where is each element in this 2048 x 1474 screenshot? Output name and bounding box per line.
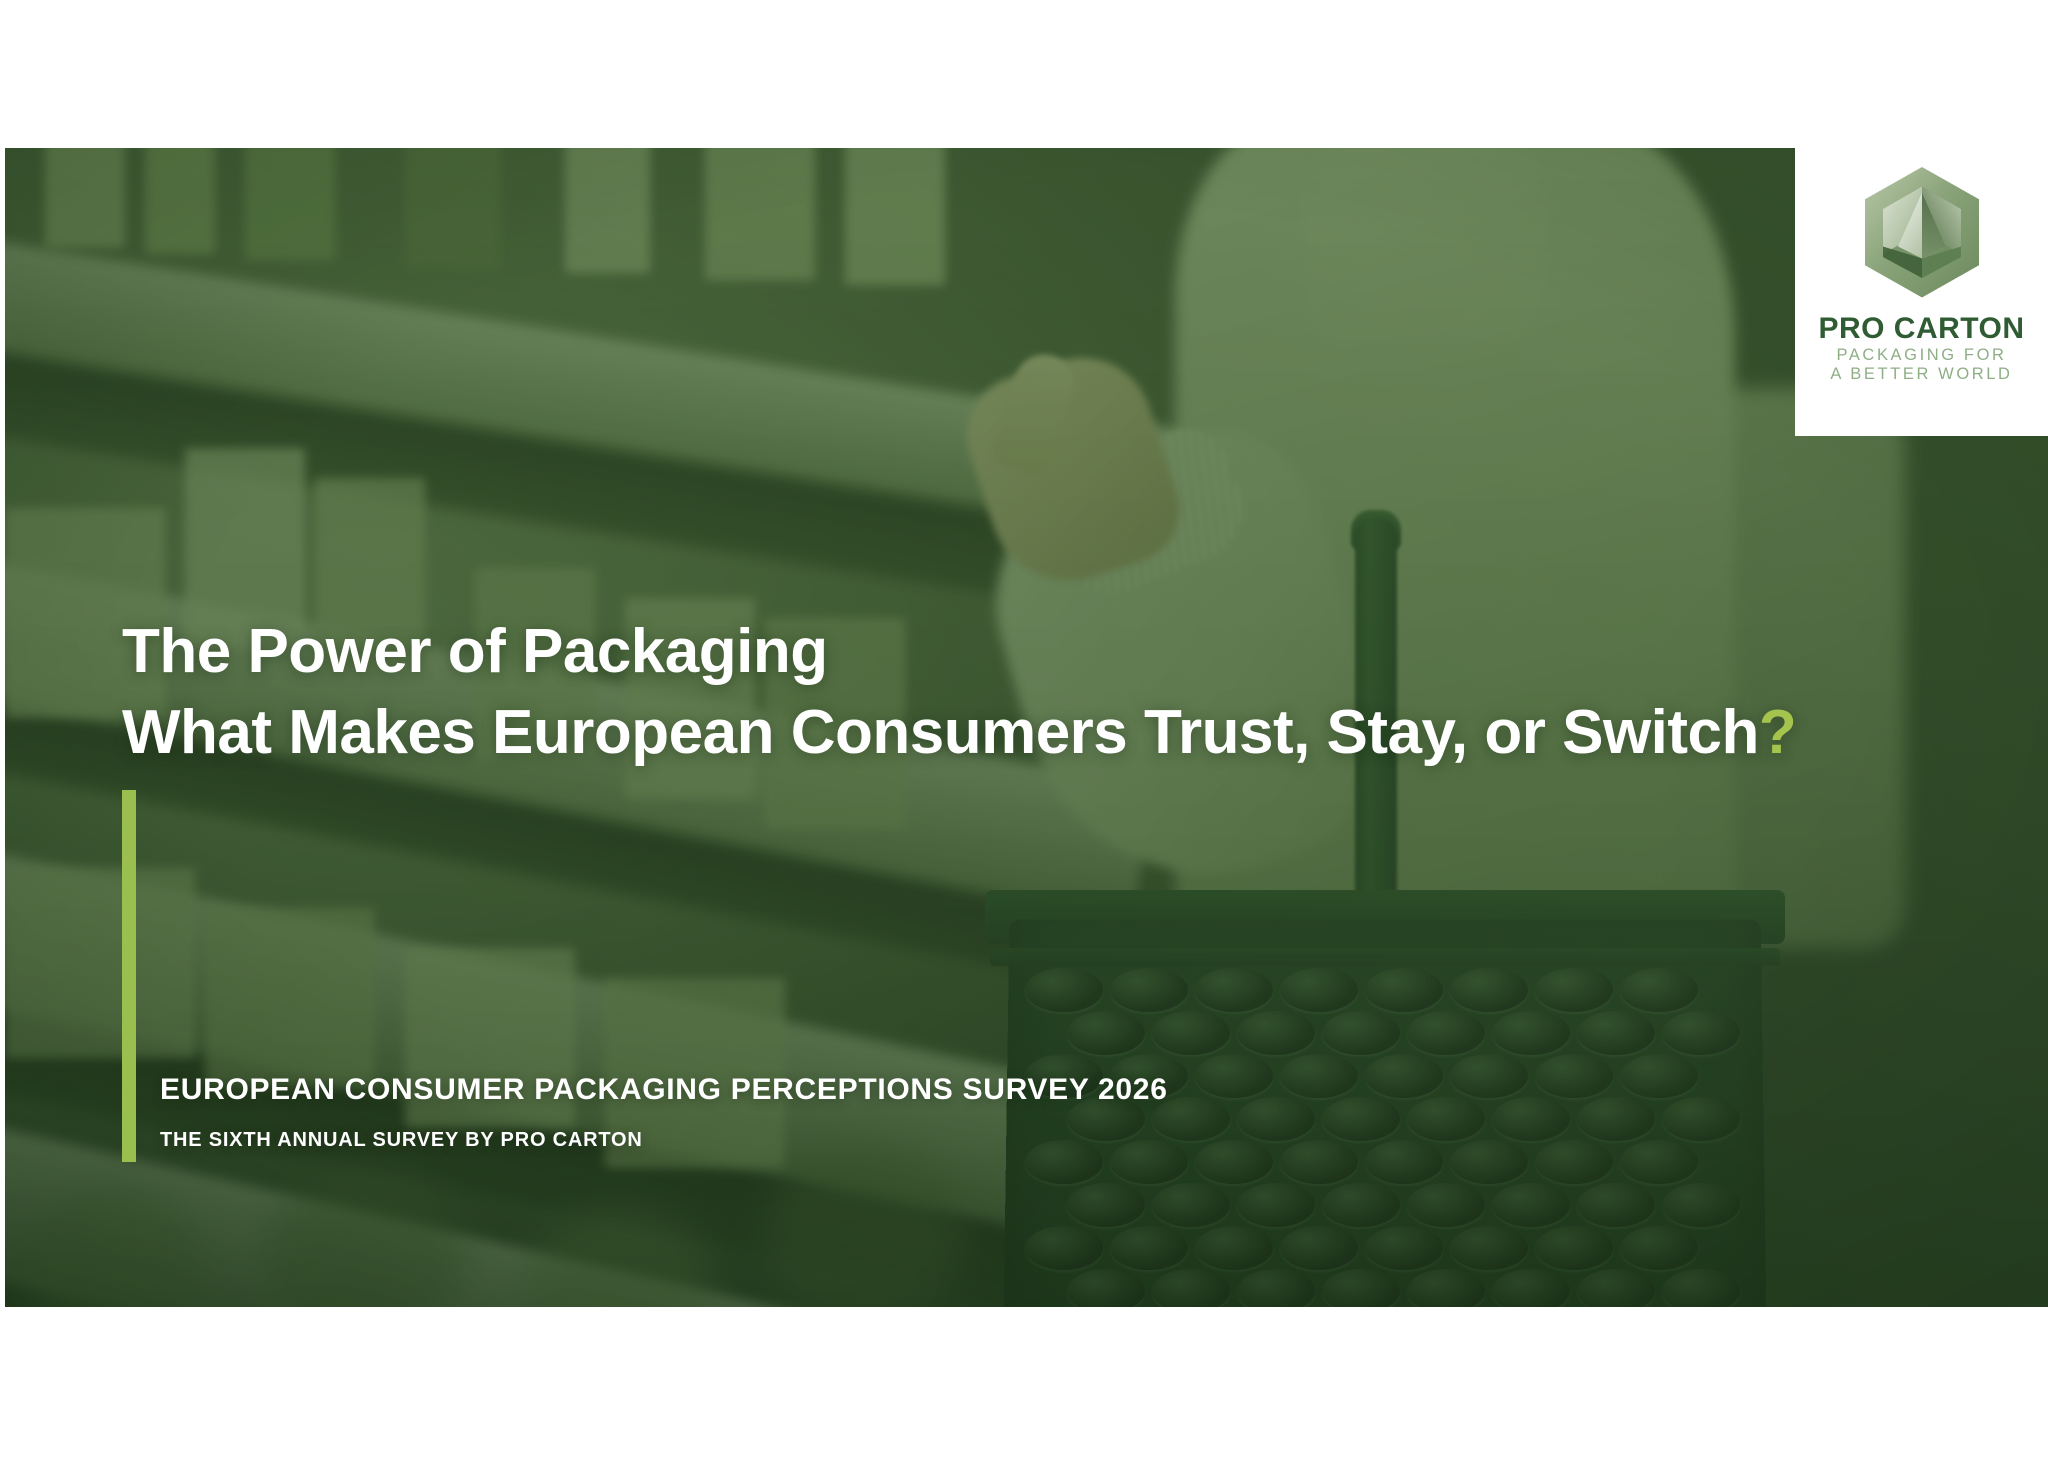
- survey-name: EUROPEAN CONSUMER PACKAGING PERCEPTIONS …: [160, 1073, 1168, 1107]
- slide-canvas: The Power of Packaging What Makes Europe…: [0, 0, 2048, 1474]
- logo-panel[interactable]: PRO CARTON PACKAGING FOR A BETTER WORLD: [1795, 148, 2048, 436]
- survey-byline: THE SIXTH ANNUAL SURVEY BY PRO CARTON: [160, 1129, 1168, 1152]
- page-title-line-1: The Power of Packaging: [122, 612, 1922, 693]
- title-block: The Power of Packaging What Makes Europe…: [122, 612, 1922, 773]
- logo-tagline-line-2: A BETTER WORLD: [1830, 365, 2012, 384]
- accent-bar: [122, 790, 136, 1162]
- logo-tagline-line-1: PACKAGING FOR: [1836, 346, 2006, 365]
- page-title-line-2-text: What Makes European Consumers Trust, Sta…: [122, 698, 1759, 767]
- caption-block: EUROPEAN CONSUMER PACKAGING PERCEPTIONS …: [160, 1073, 1168, 1152]
- hexagon-open-carton-icon: [1847, 158, 1997, 308]
- page-title-line-2: What Makes European Consumers Trust, Sta…: [122, 693, 1922, 774]
- question-mark-accent: ?: [1759, 698, 1796, 767]
- logo-wordmark: PRO CARTON: [1818, 312, 2024, 346]
